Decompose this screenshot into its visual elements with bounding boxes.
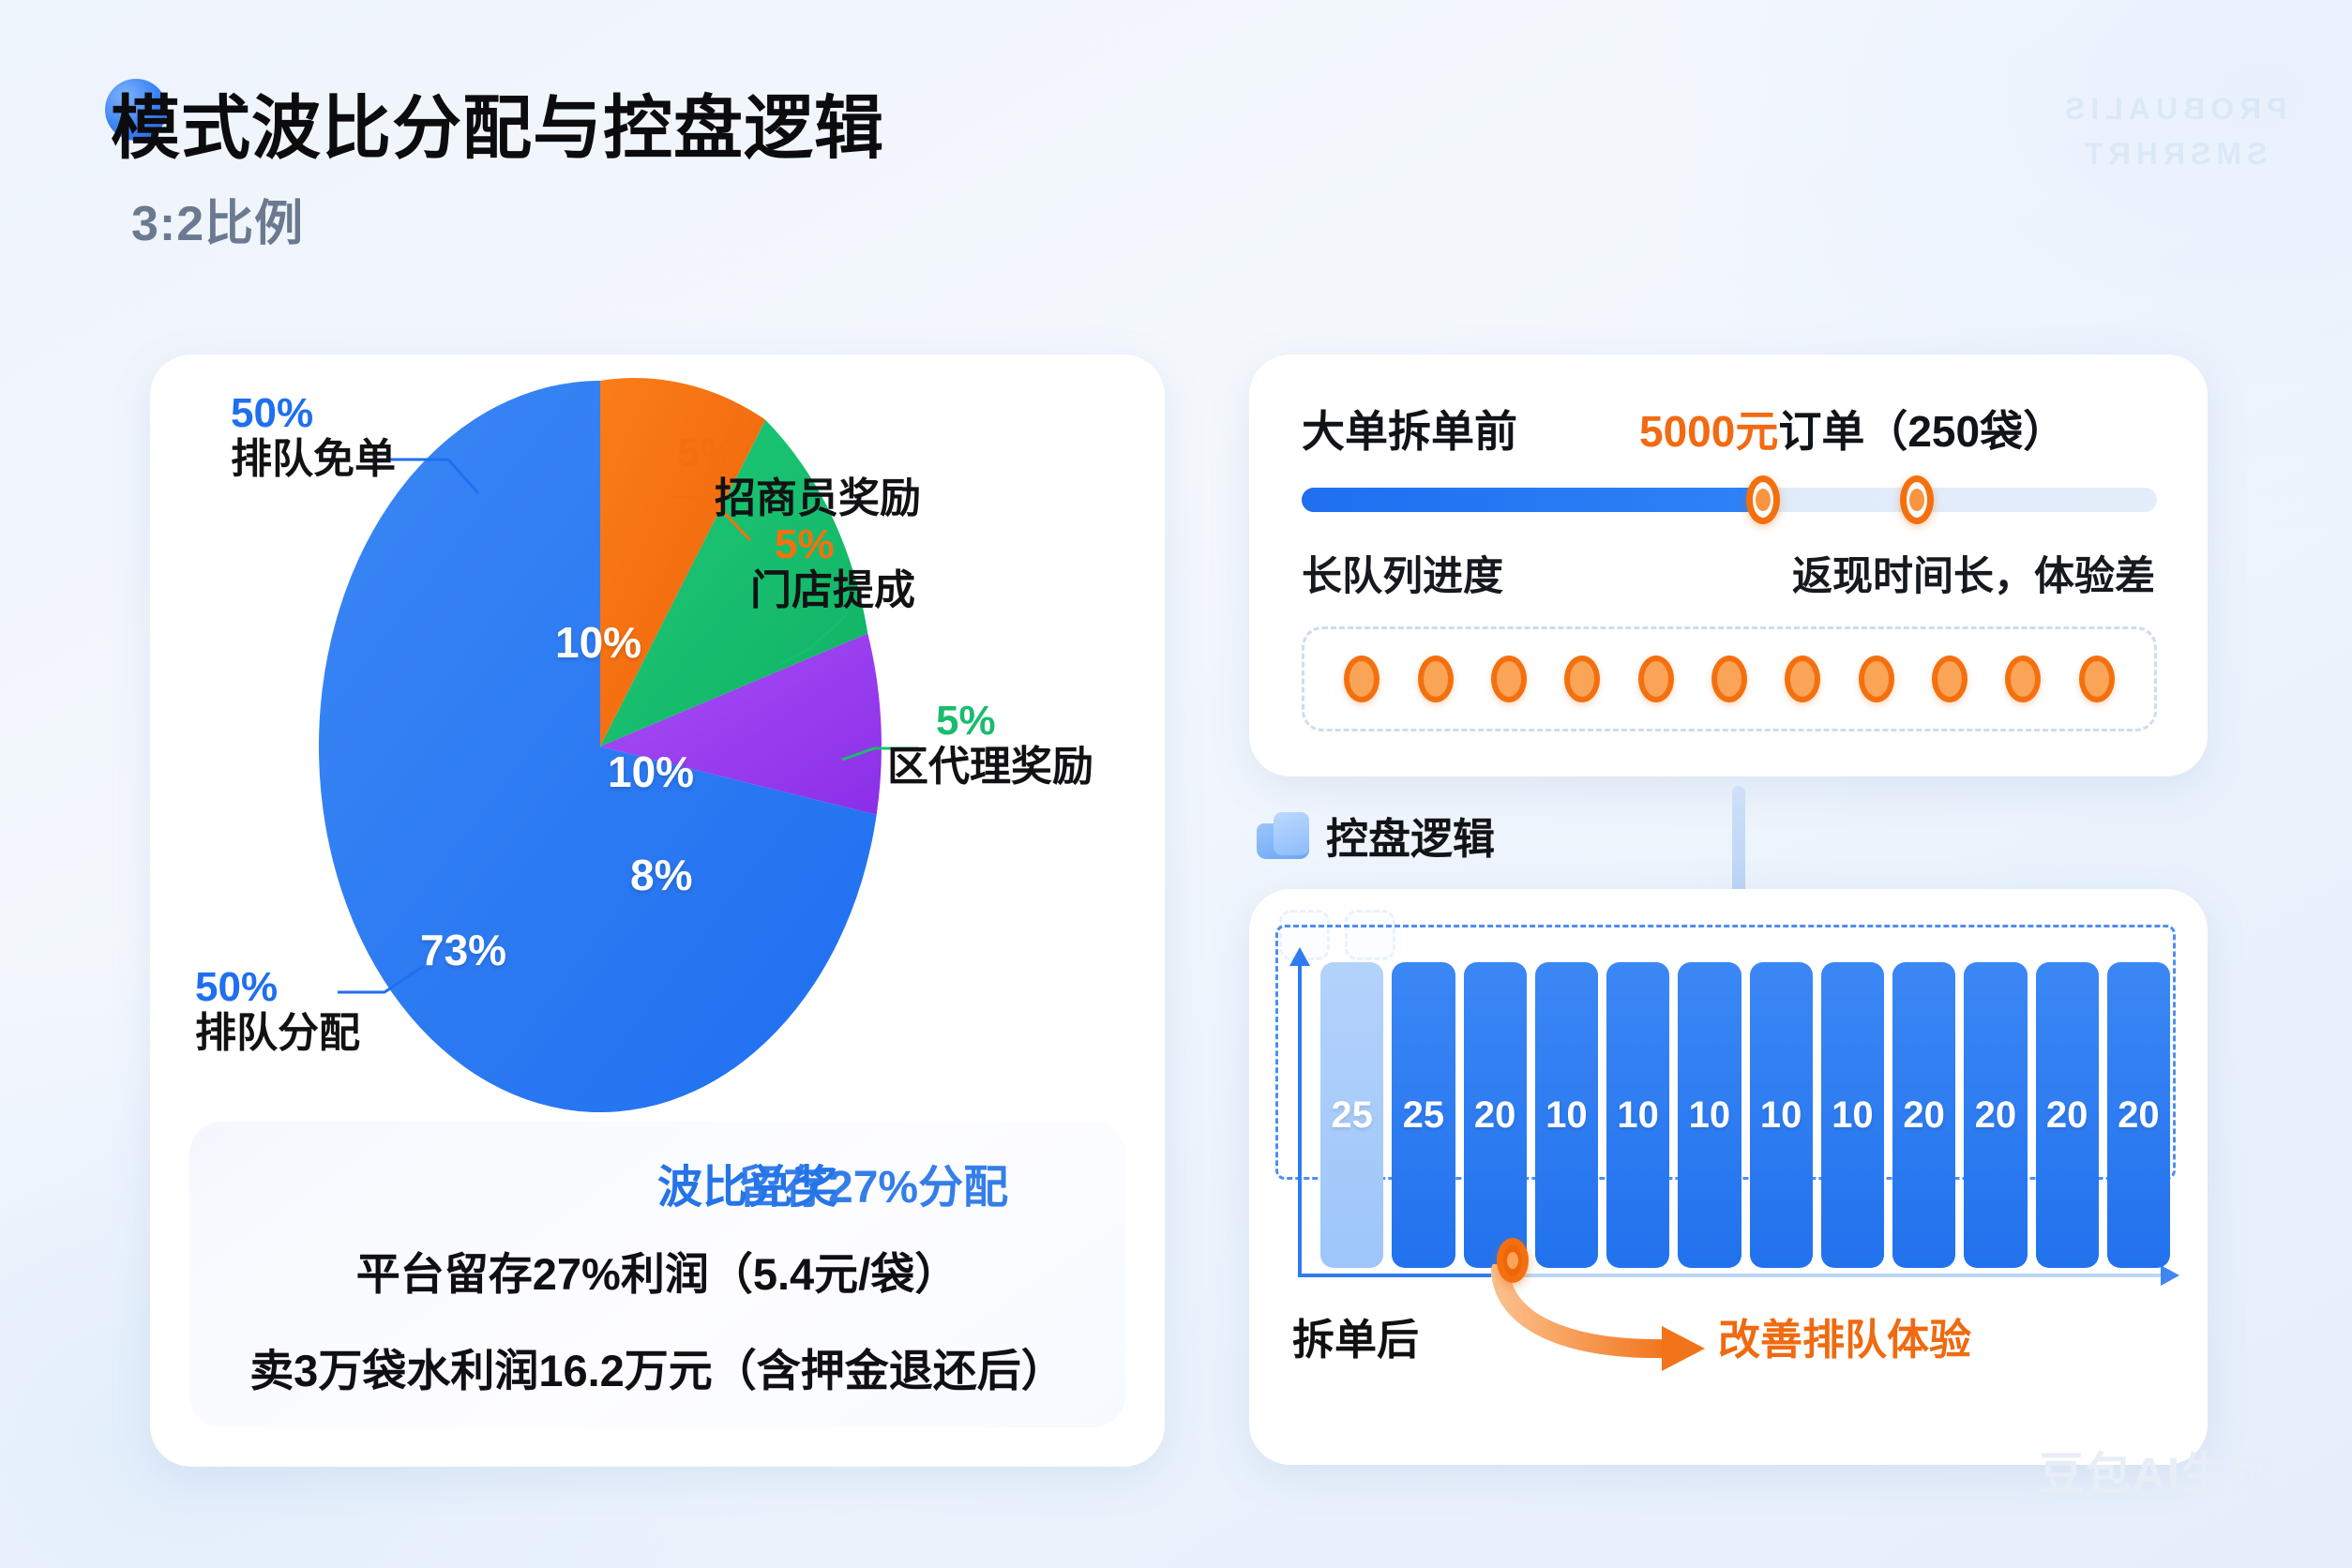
bar-chart-bar: 20: [1964, 962, 2027, 1268]
control-logic-section-header: 控盘逻辑: [1257, 805, 1495, 866]
pie-callout-pct: 5%: [677, 430, 921, 475]
pie-callout-pct: 5%: [936, 698, 1093, 744]
split-bars-card: 252520101010101020202020 拆单后 改善排队体验: [1249, 889, 2208, 1465]
pie-callout-name: 区代理奖励: [887, 744, 1093, 790]
order-split-card: 大单拆单前 5000元订单（250袋） 长队列进度 返现时间长，体验差: [1249, 354, 2208, 776]
bar-value-label: 20: [2118, 1094, 2160, 1137]
pie-slice-value-green: 10%: [608, 746, 694, 797]
queue-dot: [1859, 656, 1894, 702]
profit-summary-box: 波比兑奖 留存27%分配 平台留存27%利润（5.4元/袋） 卖3万袋水利润16…: [189, 1122, 1125, 1427]
order-amount-value: 5000元: [1639, 407, 1778, 456]
bar-chart-bar: 10: [1606, 962, 1669, 1268]
bar-chart-bar: 20: [1892, 962, 1955, 1268]
queue-dots-container: [1302, 626, 2157, 731]
slider-fill: [1302, 488, 1763, 512]
pie-slice-value-orange: 10%: [555, 617, 641, 668]
bar-chart-bar: 20: [1464, 962, 1527, 1268]
pie-slice-value-purple: 8%: [630, 850, 692, 900]
queue-dot: [1564, 656, 1600, 702]
bar-chart-bar: 25: [1392, 962, 1455, 1268]
watermark-bottom: 豆包AI生成: [2039, 1437, 2275, 1502]
bar-value-label: 20: [1975, 1094, 2017, 1137]
page-subtitle: 3:2比例: [131, 184, 884, 254]
queue-dot: [1344, 656, 1380, 702]
bar-value-label: 20: [1903, 1094, 1945, 1137]
bar-chart-bar: 10: [1821, 962, 1884, 1268]
queue-dot: [2079, 656, 2115, 702]
queue-dot: [1491, 656, 1527, 702]
page-title: 模式波比分配与控盘逻辑: [111, 72, 884, 173]
bar-chart-bars: 252520101010101020202020: [1320, 962, 2170, 1268]
bar-value-label: 20: [1474, 1094, 1516, 1137]
bar-chart-bar: 20: [2036, 962, 2099, 1268]
bar-value-label: 10: [1545, 1094, 1588, 1137]
pie-callout-pct: 50%: [195, 964, 360, 1010]
slider-right-label: 返现时间长，体验差: [1792, 544, 2155, 602]
pie-callout-queue-free: 50% 排队免单: [231, 390, 396, 483]
queue-dot: [1638, 656, 1674, 702]
watermark-top: PROBUALIS SMSRHRT: [2059, 86, 2286, 176]
profit-line-platform: 平台留存27%利润（5.4元/袋）: [356, 1238, 958, 1303]
bar-value-label: 10: [1832, 1094, 1874, 1137]
bar-value-label: 10: [1617, 1094, 1659, 1137]
slider-knob-2[interactable]: [1900, 475, 1934, 524]
queue-dot: [1418, 656, 1454, 702]
pie-callout-name: 排队分配: [195, 1010, 360, 1056]
pie-callout-agent-reward: 5% 招商员奖励: [656, 430, 921, 522]
pie-callout-queue-allocation: 50% 排队分配: [195, 964, 360, 1057]
pie-callout-pct: 50%: [231, 390, 396, 436]
page-header: 模式波比分配与控盘逻辑 3:2比例: [111, 73, 884, 254]
bar-value-label: 25: [1403, 1094, 1445, 1137]
pie-callout-name: 招商员奖励: [715, 475, 921, 521]
after-split-label: 拆单后: [1292, 1305, 1419, 1366]
pie-chart-card: 10% 10% 8% 73% 50% 排队免单 5% 招商员奖励 5% 门店提成…: [150, 354, 1165, 1467]
bar-value-label: 10: [1689, 1094, 1731, 1137]
order-card-header: 大单拆单前 5000元订单（250袋）: [1302, 398, 2157, 460]
pie-callout-store-commission: 5% 门店提成: [750, 521, 915, 614]
queue-dot: [2005, 656, 2041, 702]
slider-knob-1[interactable]: [1746, 475, 1780, 524]
order-amount-suffix: 订单（250袋）: [1778, 407, 2066, 456]
order-amount: 5000元订单（250袋）: [1639, 398, 2066, 460]
bar-chart-marker-pin[interactable]: [1497, 1238, 1529, 1283]
queue-dot: [1932, 656, 1968, 702]
improve-queue-label: 改善排队体验: [1718, 1305, 1971, 1366]
control-logic-title: 控盘逻辑: [1326, 805, 1495, 866]
bar-value-label: 20: [2046, 1094, 2088, 1137]
queue-progress-slider[interactable]: [1302, 488, 2157, 512]
watermark-top-line1: PROBUALIS: [2059, 86, 2286, 131]
bar-value-label: 10: [1760, 1094, 1802, 1137]
profit-line-total: 卖3万袋水利润16.2万元（含押金退还后）: [249, 1334, 1065, 1399]
bar-chart-bar: 10: [1535, 962, 1598, 1268]
pie-slice-value-blue: 73%: [420, 925, 506, 975]
pie-callout-name: 门店提成: [750, 567, 915, 613]
pie-callout-pct: 5%: [775, 521, 915, 567]
order-card-title: 大单拆单前: [1302, 398, 1517, 460]
queue-dot: [1785, 656, 1820, 702]
title-row: 模式波比分配与控盘逻辑: [111, 73, 884, 171]
slider-left-label: 长队列进度: [1302, 544, 1503, 602]
bar-chart-bar: 25: [1320, 962, 1383, 1268]
bar-chart-y-axis: [1298, 951, 1302, 1277]
bar-chart-bar: 10: [1678, 962, 1741, 1268]
pie-callout-district-agent: 5% 区代理奖励: [912, 698, 1093, 791]
profit-highlight-b: 留存27%分配: [738, 1150, 1008, 1215]
queue-dot: [1711, 656, 1747, 702]
watermark-top-line2: SMSRHRT: [2059, 131, 2286, 176]
folder-icon: [1257, 812, 1309, 859]
pie-callout-name: 排队免单: [231, 436, 396, 482]
bar-chart-bar: 20: [2107, 962, 2170, 1268]
pie-chart: 10% 10% 8% 73% 50% 排队免单 5% 招商员奖励 5% 门店提成…: [150, 354, 1165, 1105]
bar-value-label: 25: [1331, 1094, 1373, 1137]
bar-chart-bar: 10: [1750, 962, 1813, 1268]
